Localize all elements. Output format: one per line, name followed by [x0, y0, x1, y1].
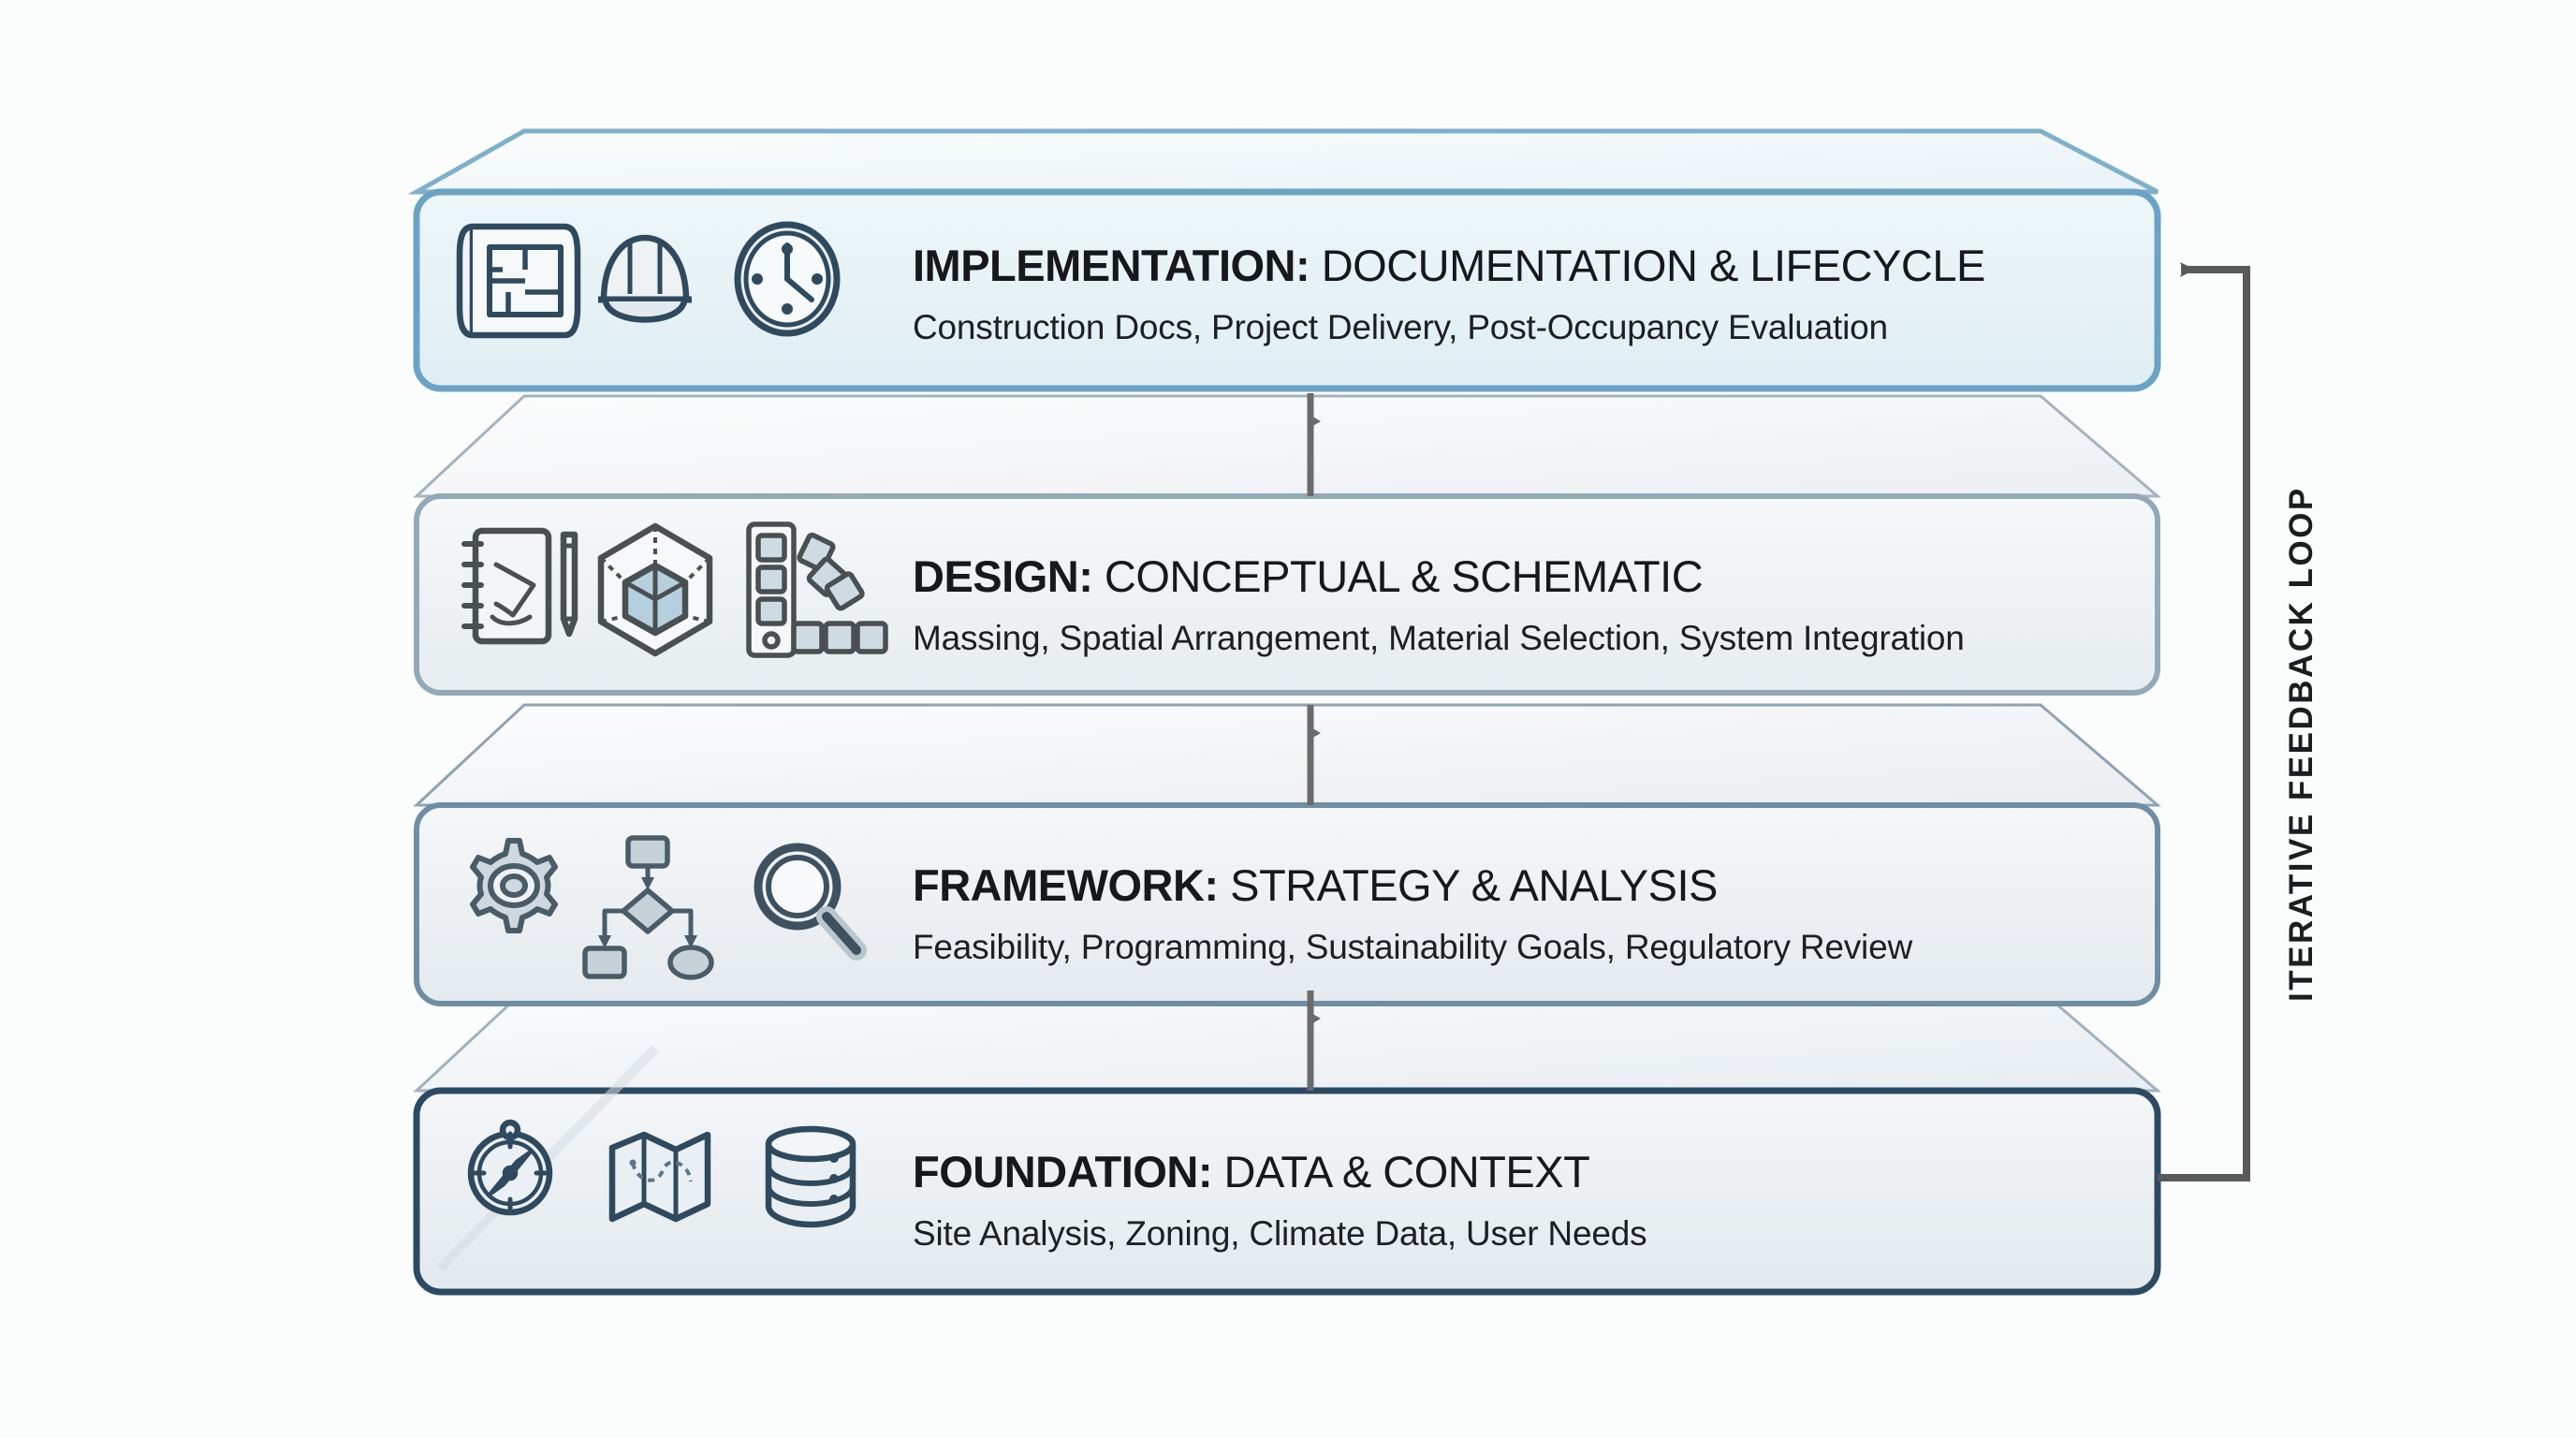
feedback-loop-label: ITERATIVE FEEDBACK LOOP	[2283, 486, 2320, 1002]
layer-design[interactable]: DESIGN: CONCEPTUAL & SCHEMATIC Massing, …	[417, 396, 2158, 693]
layer-framework-subtitle: Feasibility, Programming, Sustainability…	[913, 928, 1912, 966]
layer-foundation-title-rest: DATA & CONTEXT	[1212, 1147, 1589, 1196]
layer-foundation[interactable]: FOUNDATION: DATA & CONTEXT Site Analysis…	[417, 990, 2158, 1292]
blueprint-icon	[460, 227, 578, 335]
layer-design-title-rest: CONCEPTUAL & SCHEMATIC	[1092, 551, 1703, 601]
layer-foundation-subtitle: Site Analysis, Zoning, Climate Data, Use…	[913, 1214, 1647, 1253]
layer-implementation-subtitle: Construction Docs, Project Delivery, Pos…	[913, 308, 1888, 346]
layer-implementation-title: IMPLEMENTATION: DOCUMENTATION & LIFECYCL…	[913, 241, 1985, 290]
layer-implementation-title-rest: DOCUMENTATION & LIFECYCLE	[1310, 241, 1985, 290]
layer-foundation-title: FOUNDATION: DATA & CONTEXT	[913, 1147, 1589, 1196]
feedback-loop-path	[2158, 270, 2247, 1178]
isometric-cube-icon	[601, 526, 710, 653]
map-icon	[612, 1135, 708, 1219]
layer-design-subtitle: Massing, Spatial Arrangement, Material S…	[913, 619, 1965, 657]
layer-implementation-back-face	[417, 131, 2158, 192]
layer-design-title-bold: DESIGN:	[913, 551, 1092, 601]
feedback-loop: ITERATIVE FEEDBACK LOOP	[2158, 270, 2320, 1178]
clock-icon	[738, 225, 837, 333]
layer-design-title: DESIGN: CONCEPTUAL & SCHEMATIC	[913, 551, 1703, 601]
layer-framework-title-bold: FRAMEWORK:	[913, 860, 1219, 910]
layer-implementation[interactable]: IMPLEMENTATION: DOCUMENTATION & LIFECYCL…	[417, 131, 2158, 389]
layer-foundation-title-bold: FOUNDATION:	[913, 1147, 1212, 1196]
layer-implementation-title-bold: IMPLEMENTATION:	[913, 241, 1310, 290]
layer-framework-title: FRAMEWORK: STRATEGY & ANALYSIS	[913, 860, 1718, 910]
layer-framework-title-rest: STRATEGY & ANALYSIS	[1219, 860, 1718, 910]
process-stack-diagram: FOUNDATION: DATA & CONTEXT Site Analysis…	[0, 0, 2576, 1438]
layer-design-back-face	[417, 396, 2158, 496]
layer-framework-back-face	[417, 705, 2158, 805]
database-icon	[768, 1129, 853, 1225]
layer-framework[interactable]: FRAMEWORK: STRATEGY & ANALYSIS Feasibili…	[417, 705, 2158, 1004]
